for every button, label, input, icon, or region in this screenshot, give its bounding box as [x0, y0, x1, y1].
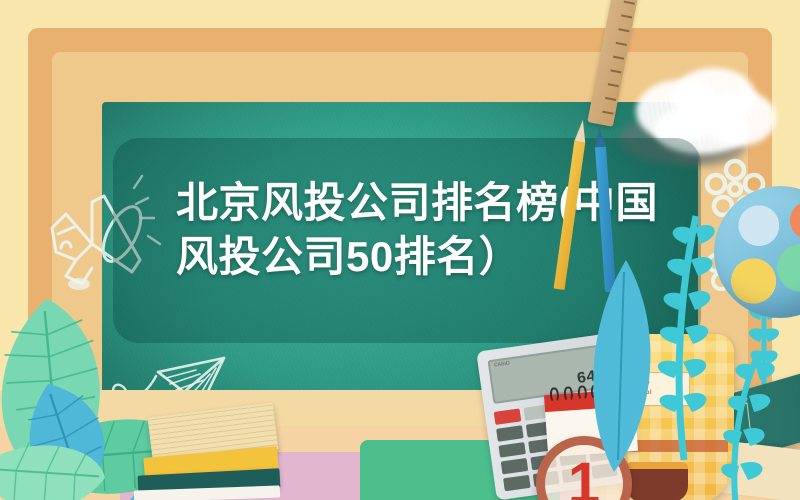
banner-image: 北京风投公司排名榜(中国风投公司50排名）: [0, 0, 800, 500]
chalk-mark: [58, 236, 74, 252]
fern-frond-edge: [696, 350, 800, 500]
calculator-brand: CASIO: [494, 360, 510, 368]
chalk-smudge-small: [66, 274, 92, 294]
page-title-line-2: 风投公司50排名）: [176, 233, 521, 280]
leaf-blue-tall: [578, 256, 668, 476]
school-supplies-cluster: HappySchool CASIO 64: [500, 200, 800, 500]
